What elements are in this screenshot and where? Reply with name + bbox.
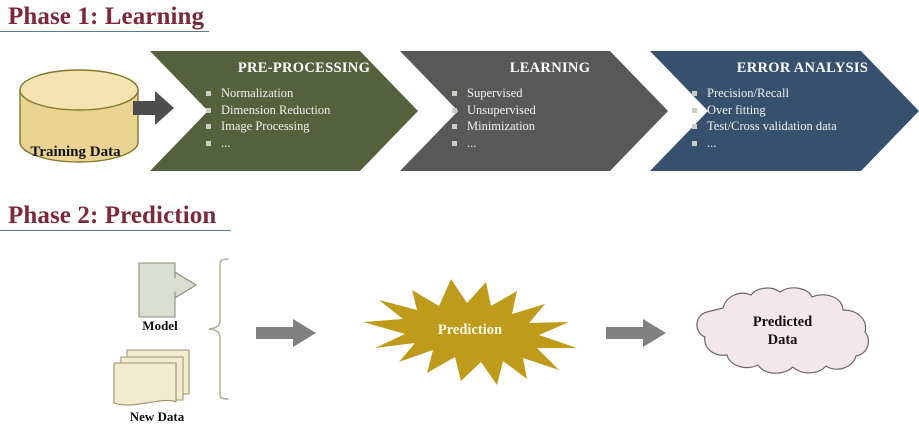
right-arrow-icon xyxy=(605,318,667,348)
curly-brace-icon xyxy=(205,258,237,400)
phase2-title-rule xyxy=(0,230,231,231)
right-arrow-icon xyxy=(255,318,317,348)
model-export-icon xyxy=(138,262,200,318)
model-label: Model xyxy=(110,318,210,334)
new-data-label: New Data xyxy=(102,409,212,425)
pipeline-chevrons xyxy=(150,51,919,171)
stacked-documents-icon xyxy=(112,348,192,410)
phase1-title: Phase 1: Learning xyxy=(8,4,204,29)
training-data-label: Training Data xyxy=(8,144,143,161)
phase2-title: Phase 2: Prediction xyxy=(8,203,216,228)
phase1-title-rule xyxy=(0,31,209,32)
cloud-icon xyxy=(676,286,888,376)
chevron-pre-processing xyxy=(150,51,418,171)
learning-pipeline: PRE-PROCESSING Normalization Dimension R… xyxy=(150,51,919,171)
chevron-error-analysis xyxy=(650,51,919,171)
explosion-burst-icon xyxy=(355,278,585,386)
chevron-learning xyxy=(400,51,668,171)
